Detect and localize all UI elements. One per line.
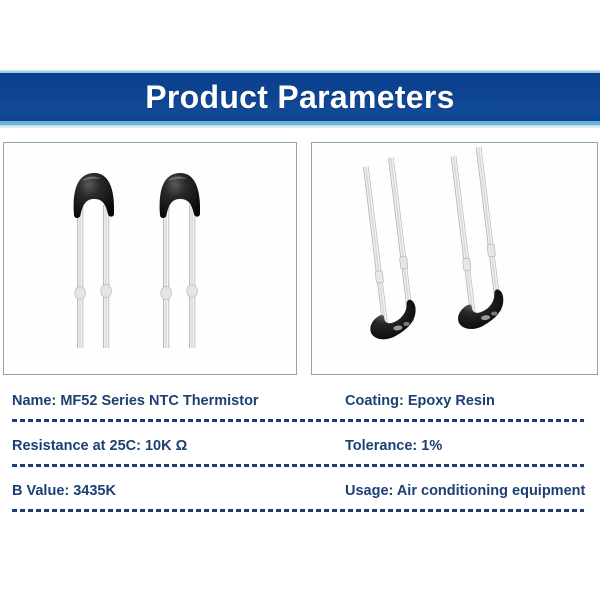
spec-b-value: B Value: 3435K	[12, 481, 116, 501]
page-title: Product Parameters	[145, 81, 455, 113]
spec-name: Name: MF52 Series NTC Thermistor	[12, 391, 259, 411]
product-gallery	[0, 142, 600, 375]
product-parameters-card: Product Parameters	[0, 0, 600, 600]
row-divider	[12, 509, 584, 512]
row-divider	[12, 419, 584, 422]
header-bottom-fade	[0, 125, 600, 128]
table-row: B Value: 3435K Usage: Air conditioning e…	[0, 475, 600, 520]
header-bar: Product Parameters	[0, 73, 600, 121]
table-row: Resistance at 25C: 10K Ω Tolerance: 1%	[0, 430, 600, 475]
spec-usage: Usage: Air conditioning equipment	[345, 481, 585, 501]
thermistor-heads-down-illustration	[312, 143, 597, 374]
spec-resistance: Resistance at 25C: 10K Ω	[12, 436, 187, 456]
header-banner: Product Parameters	[0, 70, 600, 130]
spec-coating: Coating: Epoxy Resin	[345, 391, 495, 411]
thermistor-heads-up-illustration	[4, 143, 296, 374]
table-row: Name: MF52 Series NTC Thermistor Coating…	[0, 385, 600, 430]
product-image-left[interactable]	[3, 142, 297, 375]
spec-table: Name: MF52 Series NTC Thermistor Coating…	[0, 385, 600, 520]
spec-tolerance: Tolerance: 1%	[345, 436, 442, 456]
product-image-right[interactable]	[311, 142, 598, 375]
row-divider	[12, 464, 584, 467]
